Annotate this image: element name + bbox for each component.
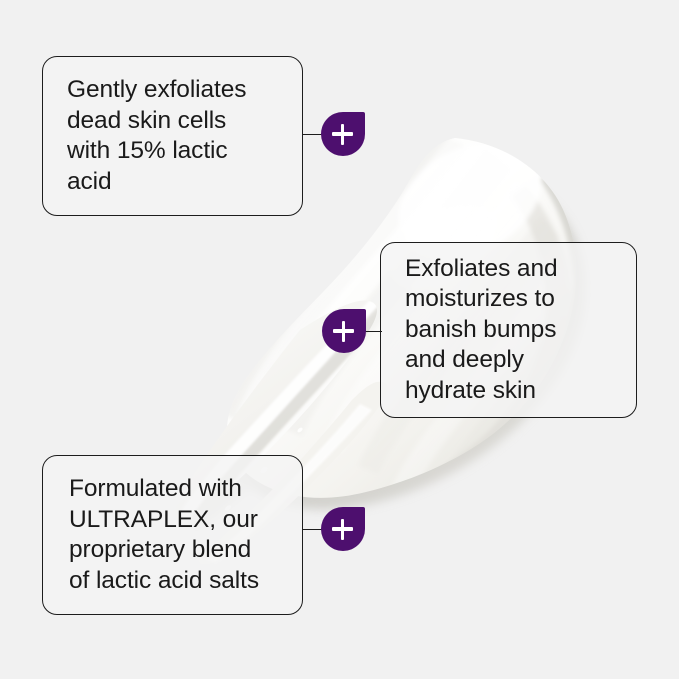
- plus-icon-vertical-stroke: [342, 321, 346, 342]
- callout-card-1[interactable]: Gently exfoliates dead skin cells with 1…: [42, 56, 303, 216]
- callout-text-1: Gently exfoliates dead skin cells with 1…: [67, 75, 246, 197]
- plus-icon-vertical-stroke: [341, 124, 345, 145]
- plus-icon[interactable]: [321, 507, 365, 551]
- plus-icon[interactable]: [321, 112, 365, 156]
- callout-text-2: Exfoliates and moisturizes to banish bum…: [405, 254, 558, 407]
- callout-text-3: Formulated with ULTRAPLEX, our proprieta…: [69, 474, 259, 596]
- infographic-canvas: Gently exfoliates dead skin cells with 1…: [0, 0, 679, 679]
- plus-icon-vertical-stroke: [341, 519, 345, 540]
- plus-icon[interactable]: [322, 309, 366, 353]
- callout-card-3[interactable]: Formulated with ULTRAPLEX, our proprieta…: [42, 455, 303, 615]
- callout-card-2[interactable]: Exfoliates and moisturizes to banish bum…: [380, 242, 637, 418]
